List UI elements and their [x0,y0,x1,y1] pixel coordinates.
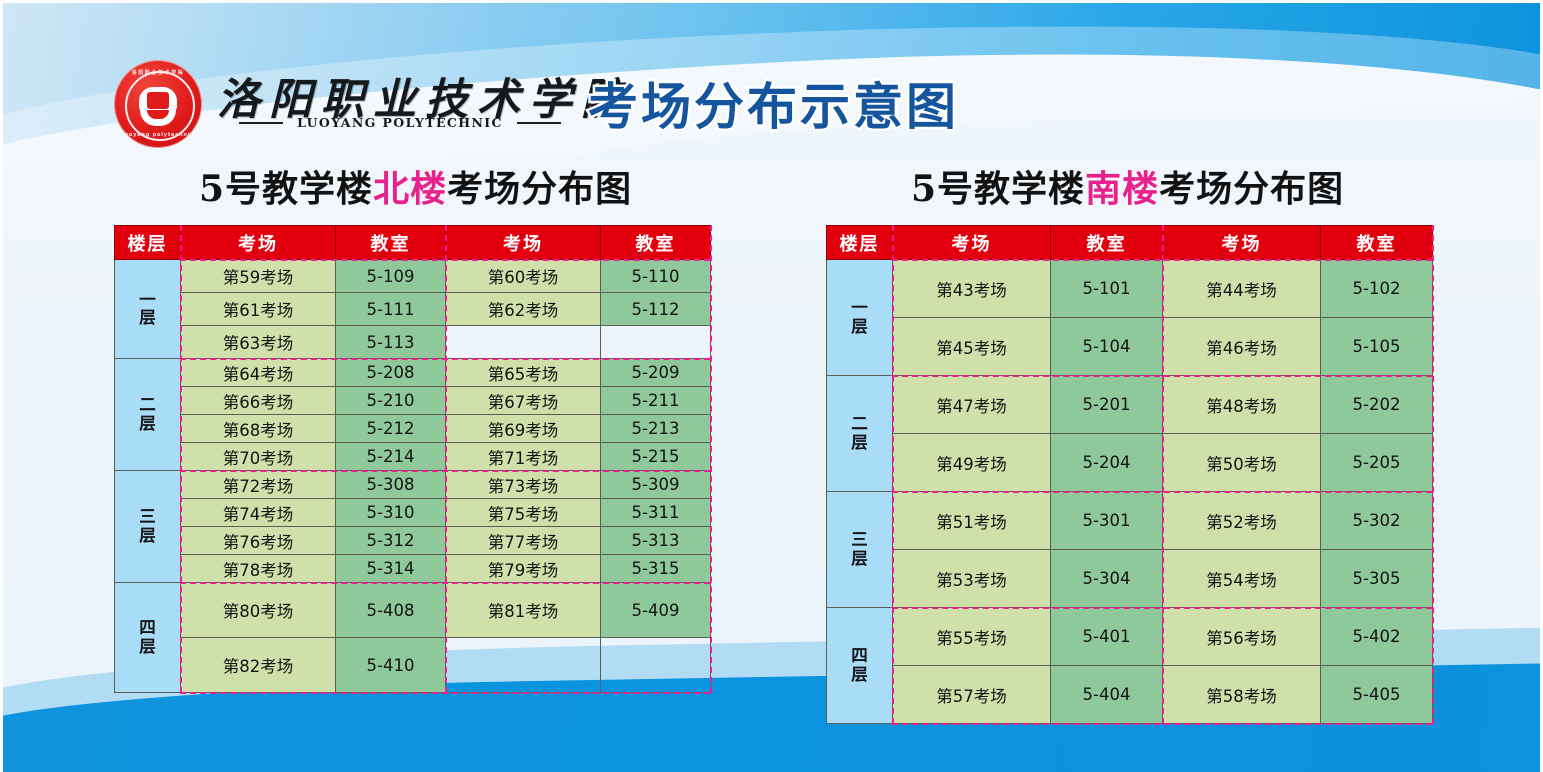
hall-cell-a: 第78考场 [181,555,336,583]
table-row: 二层第64考场5-208第65考场5-209 [115,359,711,387]
hall-cell-b: 第52考场 [1163,492,1321,550]
hall-cell-b: 第58考场 [1163,666,1321,724]
university-name-en: LUOYANG POLYTECHNIC [291,115,509,130]
poster-root: 洛阳职业技术学院 luoyang polytechnic 洛阳职业技术学院 LU… [0,0,1543,772]
table-row: 第57考场5-404第58考场5-405 [827,666,1433,724]
hall-cell-a: 第76考场 [181,527,336,555]
room-cell-a: 5-208 [336,359,446,387]
table-row: 第82考场5-410 [115,638,711,693]
floor-label-char: 层 [115,309,180,327]
hall-cell-b: 第54考场 [1163,550,1321,608]
hall-cell-a: 第66考场 [181,387,336,415]
hall-cell-a: 第68考场 [181,415,336,443]
hall-cell-a: 第61考场 [181,293,336,326]
floor-label-cell: 四层 [115,583,181,693]
logo-ring-top-text: 洛阳职业技术学院 [114,69,202,76]
hall-cell-b: 第67考场 [446,387,601,415]
floor-label-cell: 一层 [115,260,181,359]
table-row: 第45考场5-104第46考场5-105 [827,318,1433,376]
floor-label-cell: 四层 [827,608,893,724]
room-cell-b: 5-315 [601,555,711,583]
room-cell-a: 5-212 [336,415,446,443]
empty-cell [601,638,711,693]
table-row: 三层第51考场5-301第52考场5-302 [827,492,1433,550]
hall-cell-b: 第48考场 [1163,376,1321,434]
column-header-1: 考场 [181,226,336,260]
hall-cell-b: 第62考场 [446,293,601,326]
floor-label-cell: 三层 [115,471,181,583]
floor-label-char: 层 [115,527,180,545]
table-row: 第74考场5-310第75考场5-311 [115,499,711,527]
hall-cell-a: 第59考场 [181,260,336,293]
room-cell-b: 5-211 [601,387,711,415]
room-cell-a: 5-301 [1051,492,1163,550]
exam-table-north: 楼层考场教室考场教室一层第59考场5-109第60考场5-110第61考场5-1… [114,225,711,693]
exam-distribution-table: 楼层考场教室考场教室一层第43考场5-101第44考场5-102第45考场5-1… [826,225,1433,724]
hall-cell-b: 第60考场 [446,260,601,293]
hall-cell-b: 第44考场 [1163,260,1321,318]
room-cell-a: 5-210 [336,387,446,415]
hall-cell-b: 第73考场 [446,471,601,499]
hall-cell-a: 第43考场 [893,260,1051,318]
hall-cell-b: 第77考场 [446,527,601,555]
hall-cell-a: 第57考场 [893,666,1051,724]
hall-cell-b: 第81考场 [446,583,601,638]
hall-cell-b: 第69考场 [446,415,601,443]
room-cell-b: 5-405 [1321,666,1433,724]
room-cell-b: 5-105 [1321,318,1433,376]
table-row: 第78考场5-314第79考场5-315 [115,555,711,583]
room-cell-a: 5-310 [336,499,446,527]
section-title-prefix: 5号教学楼 [911,168,1085,210]
room-cell-a: 5-312 [336,527,446,555]
hall-cell-b: 第50考场 [1163,434,1321,492]
column-header-3: 考场 [1163,226,1321,260]
hall-cell-b: 第56考场 [1163,608,1321,666]
column-header-0: 楼层 [827,226,893,260]
floor-label-char: 四 [827,647,892,665]
section-title-highlight: 北楼 [373,168,447,210]
floor-label-char: 层 [115,415,180,433]
table-row: 一层第59考场5-109第60考场5-110 [115,260,711,293]
floor-label-cell: 二层 [115,359,181,471]
hall-cell-a: 第63考场 [181,326,336,359]
room-cell-b: 5-409 [601,583,711,638]
floor-label-cell: 三层 [827,492,893,608]
section-title-highlight: 南楼 [1085,168,1159,210]
empty-cell [446,638,601,693]
table-row: 第49考场5-204第50考场5-205 [827,434,1433,492]
column-header-3: 考场 [446,226,601,260]
table-header-row: 楼层考场教室考场教室 [115,226,711,260]
floor-label-cell: 二层 [827,376,893,492]
floor-label-char: 二 [115,396,180,414]
hall-cell-a: 第45考场 [893,318,1051,376]
room-cell-b: 5-309 [601,471,711,499]
hall-cell-b: 第46考场 [1163,318,1321,376]
section-title-south: 5号教学楼南楼考场分布图 [911,160,1344,212]
hall-cell-a: 第55考场 [893,608,1051,666]
room-cell-b: 5-202 [1321,376,1433,434]
room-cell-a: 5-109 [336,260,446,293]
hall-cell-b: 第71考场 [446,443,601,471]
room-cell-a: 5-410 [336,638,446,693]
table-row: 第63考场5-113 [115,326,711,359]
university-name-en-row: LUOYANG POLYTECHNIC [239,115,561,130]
room-cell-a: 5-113 [336,326,446,359]
floor-label-char: 三 [115,508,180,526]
room-cell-b: 5-209 [601,359,711,387]
room-cell-a: 5-111 [336,293,446,326]
hall-cell-a: 第64考场 [181,359,336,387]
column-header-2: 教室 [1051,226,1163,260]
page-title: 考场分布示意图 [588,67,959,139]
section-title-north: 5号教学楼北楼考场分布图 [199,160,632,212]
logo-emblem-core [147,92,169,109]
room-cell-b: 5-112 [601,293,711,326]
floor-label-char: 三 [827,531,892,549]
table-header-row: 楼层考场教室考场教室 [827,226,1433,260]
room-cell-a: 5-304 [1051,550,1163,608]
section-title-suffix: 考场分布图 [447,168,632,210]
room-cell-b: 5-313 [601,527,711,555]
floor-label-char: 层 [827,666,892,684]
hall-cell-a: 第51考场 [893,492,1051,550]
room-cell-a: 5-308 [336,471,446,499]
rule-right [517,122,561,124]
room-cell-a: 5-104 [1051,318,1163,376]
table-row: 第70考场5-214第71考场5-215 [115,443,711,471]
column-header-0: 楼层 [115,226,181,260]
hall-cell-a: 第74考场 [181,499,336,527]
rule-left [239,122,283,124]
table-row: 二层第47考场5-201第48考场5-202 [827,376,1433,434]
hall-cell-b: 第75考场 [446,499,601,527]
hall-cell-a: 第70考场 [181,443,336,471]
table-row: 一层第43考场5-101第44考场5-102 [827,260,1433,318]
table-row: 四层第55考场5-401第56考场5-402 [827,608,1433,666]
floor-label-char: 层 [827,550,892,568]
room-cell-b: 5-402 [1321,608,1433,666]
room-cell-b: 5-102 [1321,260,1433,318]
floor-label-char: 层 [827,318,892,336]
hall-cell-b: 第79考场 [446,555,601,583]
column-header-2: 教室 [336,226,446,260]
section-title-suffix: 考场分布图 [1159,168,1344,210]
room-cell-b: 5-213 [601,415,711,443]
column-header-4: 教室 [601,226,711,260]
logo-ring-bottom-text: luoyang polytechnic [114,132,202,138]
hall-cell-b: 第65考场 [446,359,601,387]
column-header-1: 考场 [893,226,1051,260]
empty-cell [601,326,711,359]
empty-cell [446,326,601,359]
floor-label-char: 一 [827,299,892,317]
room-cell-b: 5-110 [601,260,711,293]
hall-cell-a: 第49考场 [893,434,1051,492]
hall-cell-a: 第82考场 [181,638,336,693]
floor-label-char: 四 [115,619,180,637]
room-cell-a: 5-408 [336,583,446,638]
room-cell-b: 5-205 [1321,434,1433,492]
room-cell-a: 5-204 [1051,434,1163,492]
table-row: 第66考场5-210第67考场5-211 [115,387,711,415]
room-cell-b: 5-215 [601,443,711,471]
table-row: 第68考场5-212第69考场5-213 [115,415,711,443]
room-cell-a: 5-201 [1051,376,1163,434]
floor-label-char: 层 [827,434,892,452]
room-cell-a: 5-314 [336,555,446,583]
room-cell-b: 5-311 [601,499,711,527]
room-cell-a: 5-214 [336,443,446,471]
floor-label-char: 层 [115,638,180,656]
column-header-4: 教室 [1321,226,1433,260]
hall-cell-a: 第72考场 [181,471,336,499]
floor-label-char: 一 [115,291,180,309]
room-cell-a: 5-101 [1051,260,1163,318]
university-logo: 洛阳职业技术学院 luoyang polytechnic [114,60,206,152]
floor-label-cell: 一层 [827,260,893,376]
room-cell-a: 5-404 [1051,666,1163,724]
table-row: 三层第72考场5-308第73考场5-309 [115,471,711,499]
table-row: 第76考场5-312第77考场5-313 [115,527,711,555]
hall-cell-a: 第47考场 [893,376,1051,434]
section-title-prefix: 5号教学楼 [199,168,373,210]
hall-cell-a: 第53考场 [893,550,1051,608]
room-cell-b: 5-302 [1321,492,1433,550]
hall-cell-a: 第80考场 [181,583,336,638]
floor-label-char: 二 [827,415,892,433]
exam-table-south: 楼层考场教室考场教室一层第43考场5-101第44考场5-102第45考场5-1… [826,225,1433,724]
room-cell-b: 5-305 [1321,550,1433,608]
table-row: 第53考场5-304第54考场5-305 [827,550,1433,608]
table-row: 第61考场5-111第62考场5-112 [115,293,711,326]
room-cell-a: 5-401 [1051,608,1163,666]
table-row: 四层第80考场5-408第81考场5-409 [115,583,711,638]
exam-distribution-table: 楼层考场教室考场教室一层第59考场5-109第60考场5-110第61考场5-1… [114,225,711,693]
